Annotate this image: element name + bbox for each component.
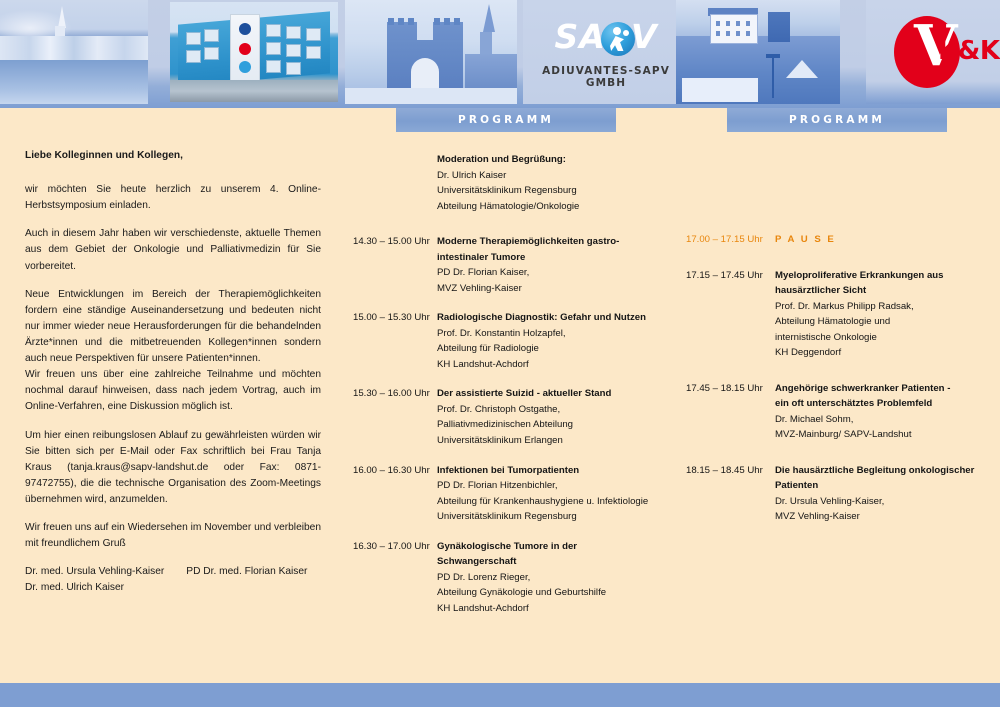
session-body: Radiologische Diagnostik: Gefahr und Nut…	[437, 310, 673, 372]
session-time: 16.30 – 17.00 Uhr	[353, 539, 437, 617]
pause-time: 17.00 – 17.15 Uhr	[686, 232, 775, 248]
window-shape	[204, 29, 219, 42]
programm-banner-left: PROGRAMM	[396, 108, 616, 132]
letter-paragraph: Wir freuen uns über eine zahlreiche Teil…	[25, 367, 321, 415]
sapv-subtitle: ADIUVANTES-SAPV GMBH	[523, 65, 689, 89]
window-shape	[716, 31, 720, 36]
window-shape	[736, 21, 740, 26]
side-building-shape	[465, 54, 517, 88]
gabled-roof-shape	[786, 60, 818, 78]
session-time: 18.15 – 18.45 Uhr	[686, 463, 775, 525]
session-title-line: Schwangerschaft	[437, 554, 673, 570]
window-shape	[726, 21, 730, 26]
header-banner: SAPV ADIUVANTES-SAPV GMBH	[0, 0, 1000, 108]
moderation-line: Abteilung Hämatologie/Onkologie	[437, 199, 673, 215]
window-shape	[266, 24, 281, 37]
signage-logo-dot	[239, 61, 251, 73]
signature-line-1: Dr. med. Ursula Vehling-KaiserPD Dr. med…	[25, 564, 321, 580]
church-spire-shape	[58, 6, 66, 28]
session-title-line: Radiologische Diagnostik: Gefahr und Nut…	[437, 310, 673, 326]
window-shape	[266, 42, 281, 55]
session-item: 17.15 – 17.45 Uhr Myeloproliferative Erk…	[686, 268, 986, 361]
window-shape	[186, 50, 201, 63]
window-shape	[286, 44, 301, 57]
castle-keep-tower	[768, 12, 790, 42]
session-speaker-line: MVZ Vehling-Kaiser	[775, 509, 986, 525]
merlon-shape	[398, 18, 404, 25]
session-title-line: ein oft unterschätztes Problemfeld	[775, 396, 986, 412]
letter-paragraph: wir möchten Sie heute herzlich zu unsere…	[25, 182, 321, 214]
session-body: Die hausärztliche Begleitung onkologisch…	[775, 463, 986, 525]
session-title-line: intestinaler Tumore	[437, 250, 673, 266]
merlon-shape	[454, 18, 460, 25]
session-speaker-line: MVZ Vehling-Kaiser	[437, 281, 673, 297]
castle-building	[710, 14, 758, 44]
session-item: 16.30 – 17.00 Uhr Gynäkologische Tumore …	[353, 539, 673, 617]
street-lamp-post	[772, 54, 774, 98]
pause-label: P A U S E	[775, 232, 986, 248]
session-item: 17.45 – 18.15 Uhr Angehörige schwerkrank…	[686, 381, 986, 443]
window-shape	[186, 32, 201, 45]
moderation-line: Dr. Ulrich Kaiser	[437, 168, 673, 184]
clinic-building-photo	[170, 2, 338, 102]
programm-banner-right-label: PROGRAMM	[789, 114, 885, 126]
window-shape	[204, 47, 219, 60]
footer-bar	[0, 683, 1000, 707]
session-title-line: hausärztlicher Sicht	[775, 283, 986, 299]
programm-banner-right: PROGRAMM	[727, 108, 947, 132]
window-shape	[306, 28, 321, 41]
session-item: 15.00 – 15.30 Uhr Radiologische Diagnost…	[353, 310, 673, 372]
church-spire-shape	[483, 4, 495, 32]
session-time: 17.45 – 18.15 Uhr	[686, 381, 775, 443]
signature-name-ursula: Dr. med. Ursula Vehling-Kaiser	[25, 566, 164, 577]
session-time: 15.00 – 15.30 Uhr	[353, 310, 437, 372]
letter-paragraph: Um hier einen reibungslosen Ablauf zu ge…	[25, 428, 321, 509]
figure-body-shape	[610, 36, 624, 51]
session-item: 16.00 – 16.30 Uhr Infektionen bei Tumorp…	[353, 463, 673, 525]
session-speaker-line: PD Dr. Florian Hitzenbichler,	[437, 478, 673, 494]
signature-name-florian: PD Dr. med. Florian Kaiser	[186, 566, 307, 577]
session-speaker-line: Universitätsklinikum Erlangen	[437, 433, 673, 449]
street-ground	[345, 88, 517, 104]
session-speaker-line: internistische Onkologie	[775, 330, 986, 346]
moderation-block: 00.00 – 00.00 Uhr Moderation und Begrüßu…	[353, 152, 673, 214]
session-title-line: Patienten	[775, 478, 986, 494]
window-shape	[736, 31, 740, 36]
kk-wordmark: K&K	[938, 38, 999, 64]
session-item: 15.30 – 16.00 Uhr Der assistierte Suizid…	[353, 386, 673, 448]
session-title-line: Moderne Therapiemöglichkeiten gastro-	[437, 234, 673, 250]
program-column-left: 00.00 – 00.00 Uhr Moderation und Begrüßu…	[353, 152, 673, 630]
session-body: Infektionen bei Tumorpatienten PD Dr. Fl…	[437, 463, 673, 525]
letter-paragraph: Neue Entwicklungen im Bereich der Therap…	[25, 287, 321, 368]
session-time: 15.30 – 16.00 Uhr	[353, 386, 437, 448]
signage-logo-dot	[239, 43, 251, 55]
castle-hill-photo	[676, 0, 840, 104]
session-body: Gynäkologische Tumore in der Schwangersc…	[437, 539, 673, 617]
session-time: 16.00 – 16.30 Uhr	[353, 463, 437, 525]
window-shape	[286, 62, 301, 75]
invitation-letter-column: Liebe Kolleginnen und Kollegen, wir möch…	[25, 148, 321, 609]
session-speaker-line: KH Landshut-Achdorf	[437, 601, 673, 617]
signature-line-2: Dr. med. Ulrich Kaiser	[25, 580, 321, 596]
session-body: Angehörige schwerkranker Patienten - ein…	[775, 381, 986, 443]
figure-dot-shape	[623, 30, 629, 36]
session-speaker-line: MVZ-Mainburg/ SAPV-Landshut	[775, 427, 986, 443]
letter-salutation: Liebe Kolleginnen und Kollegen,	[25, 148, 321, 164]
signage-logo-dot	[239, 23, 251, 35]
letter-paragraph: Wir freuen uns auf ein Wiedersehen im No…	[25, 520, 321, 552]
sapv-logo: SAPV ADIUVANTES-SAPV GMBH	[523, 20, 689, 89]
pause-item: 17.00 – 17.15 Uhr P A U S E	[686, 232, 986, 248]
sapv-figure-icon	[601, 22, 635, 56]
session-title-line: Infektionen bei Tumorpatienten	[437, 463, 673, 479]
window-shape	[726, 31, 730, 36]
session-time: 14.30 – 15.00 Uhr	[353, 234, 437, 296]
gate-archway	[411, 58, 439, 88]
sapv-logo-panel: SAPV ADIUVANTES-SAPV GMBH	[523, 0, 689, 104]
session-speaker-line: Palliativmedizinischen Abteilung	[437, 417, 673, 433]
session-time: 17.15 – 17.45 Uhr	[686, 268, 775, 361]
street-lamp-arm	[766, 54, 780, 58]
session-title-line: Gynäkologische Tumore in der	[437, 539, 673, 555]
session-speaker-line: Abteilung für Krankenhaushygiene u. Infe…	[437, 494, 673, 510]
window-shape	[266, 60, 281, 73]
session-title-line: Der assistierte Suizid - aktueller Stand	[437, 386, 673, 402]
session-title-line: Die hausärztliche Begleitung onkologisch…	[775, 463, 986, 479]
session-body: Myeloproliferative Erkrankungen aus haus…	[775, 268, 986, 361]
session-speaker-line: Universitätsklinikum Regensburg	[437, 509, 673, 525]
session-item: 18.15 – 18.45 Uhr Die hausärztliche Begl…	[686, 463, 986, 525]
moderation-body: Moderation und Begrüßung: Dr. Ulrich Kai…	[437, 152, 673, 214]
session-speaker-line: Prof. Dr. Konstantin Holzapfel,	[437, 326, 673, 342]
program-column-right: 17.00 – 17.15 Uhr P A U S E 17.15 – 17.4…	[686, 232, 986, 539]
programm-banner-left-label: PROGRAMM	[458, 114, 554, 126]
program-flyer-page: SAPV ADIUVANTES-SAPV GMBH	[0, 0, 1000, 707]
merlon-shape	[444, 18, 450, 25]
moderation-line: Universitätsklinikum Regensburg	[437, 183, 673, 199]
session-speaker-line: KH Landshut-Achdorf	[437, 357, 673, 373]
window-shape	[306, 46, 321, 59]
session-speaker-line: Abteilung Gynäkologie und Geburtshilfe	[437, 585, 673, 601]
window-shape	[746, 21, 750, 26]
merlon-shape	[434, 18, 440, 25]
riverside-town-photo	[0, 0, 148, 104]
session-speaker-line: Abteilung für Radiologie	[437, 341, 673, 357]
window-shape	[716, 21, 720, 26]
merlon-shape	[408, 18, 414, 25]
session-body: Der assistierte Suizid - aktueller Stand…	[437, 386, 673, 448]
session-speaker-line: PD Dr. Florian Kaiser,	[437, 265, 673, 281]
session-title-line: Myeloproliferative Erkrankungen aus	[775, 268, 986, 284]
session-body: Moderne Therapiemöglichkeiten gastro- in…	[437, 234, 673, 296]
moderation-heading: Moderation und Begrüßung:	[437, 152, 673, 168]
merlon-shape	[388, 18, 394, 25]
session-speaker-line: Dr. Michael Sohm,	[775, 412, 986, 428]
town-houses-row	[682, 78, 758, 102]
pause-body: P A U S E	[775, 232, 986, 248]
session-speaker-line: Abteilung Hämatologie und	[775, 314, 986, 330]
window-shape	[286, 26, 301, 39]
figure-head-shape	[613, 27, 621, 35]
forecourt-ground	[170, 80, 338, 102]
session-speaker-line: Dr. Ursula Vehling-Kaiser,	[775, 494, 986, 510]
session-item: 14.30 – 15.00 Uhr Moderne Therapiemöglic…	[353, 234, 673, 296]
session-speaker-line: Prof. Dr. Christoph Ostgathe,	[437, 402, 673, 418]
clinic-signage-pylon	[230, 14, 260, 88]
river-water	[0, 60, 148, 104]
session-speaker-line: Prof. Dr. Markus Philipp Radsak,	[775, 299, 986, 315]
kk-logo-panel: V K&K	[866, 0, 1000, 104]
townscape-roofline	[0, 36, 148, 60]
session-title-line: Angehörige schwerkranker Patienten -	[775, 381, 986, 397]
letter-paragraph: Auch in diesem Jahr haben wir verschiede…	[25, 226, 321, 274]
session-speaker-line: KH Deggendorf	[775, 345, 986, 361]
city-gate-photo	[345, 0, 517, 104]
session-speaker-line: PD Dr. Lorenz Rieger,	[437, 570, 673, 586]
window-shape	[746, 31, 750, 36]
